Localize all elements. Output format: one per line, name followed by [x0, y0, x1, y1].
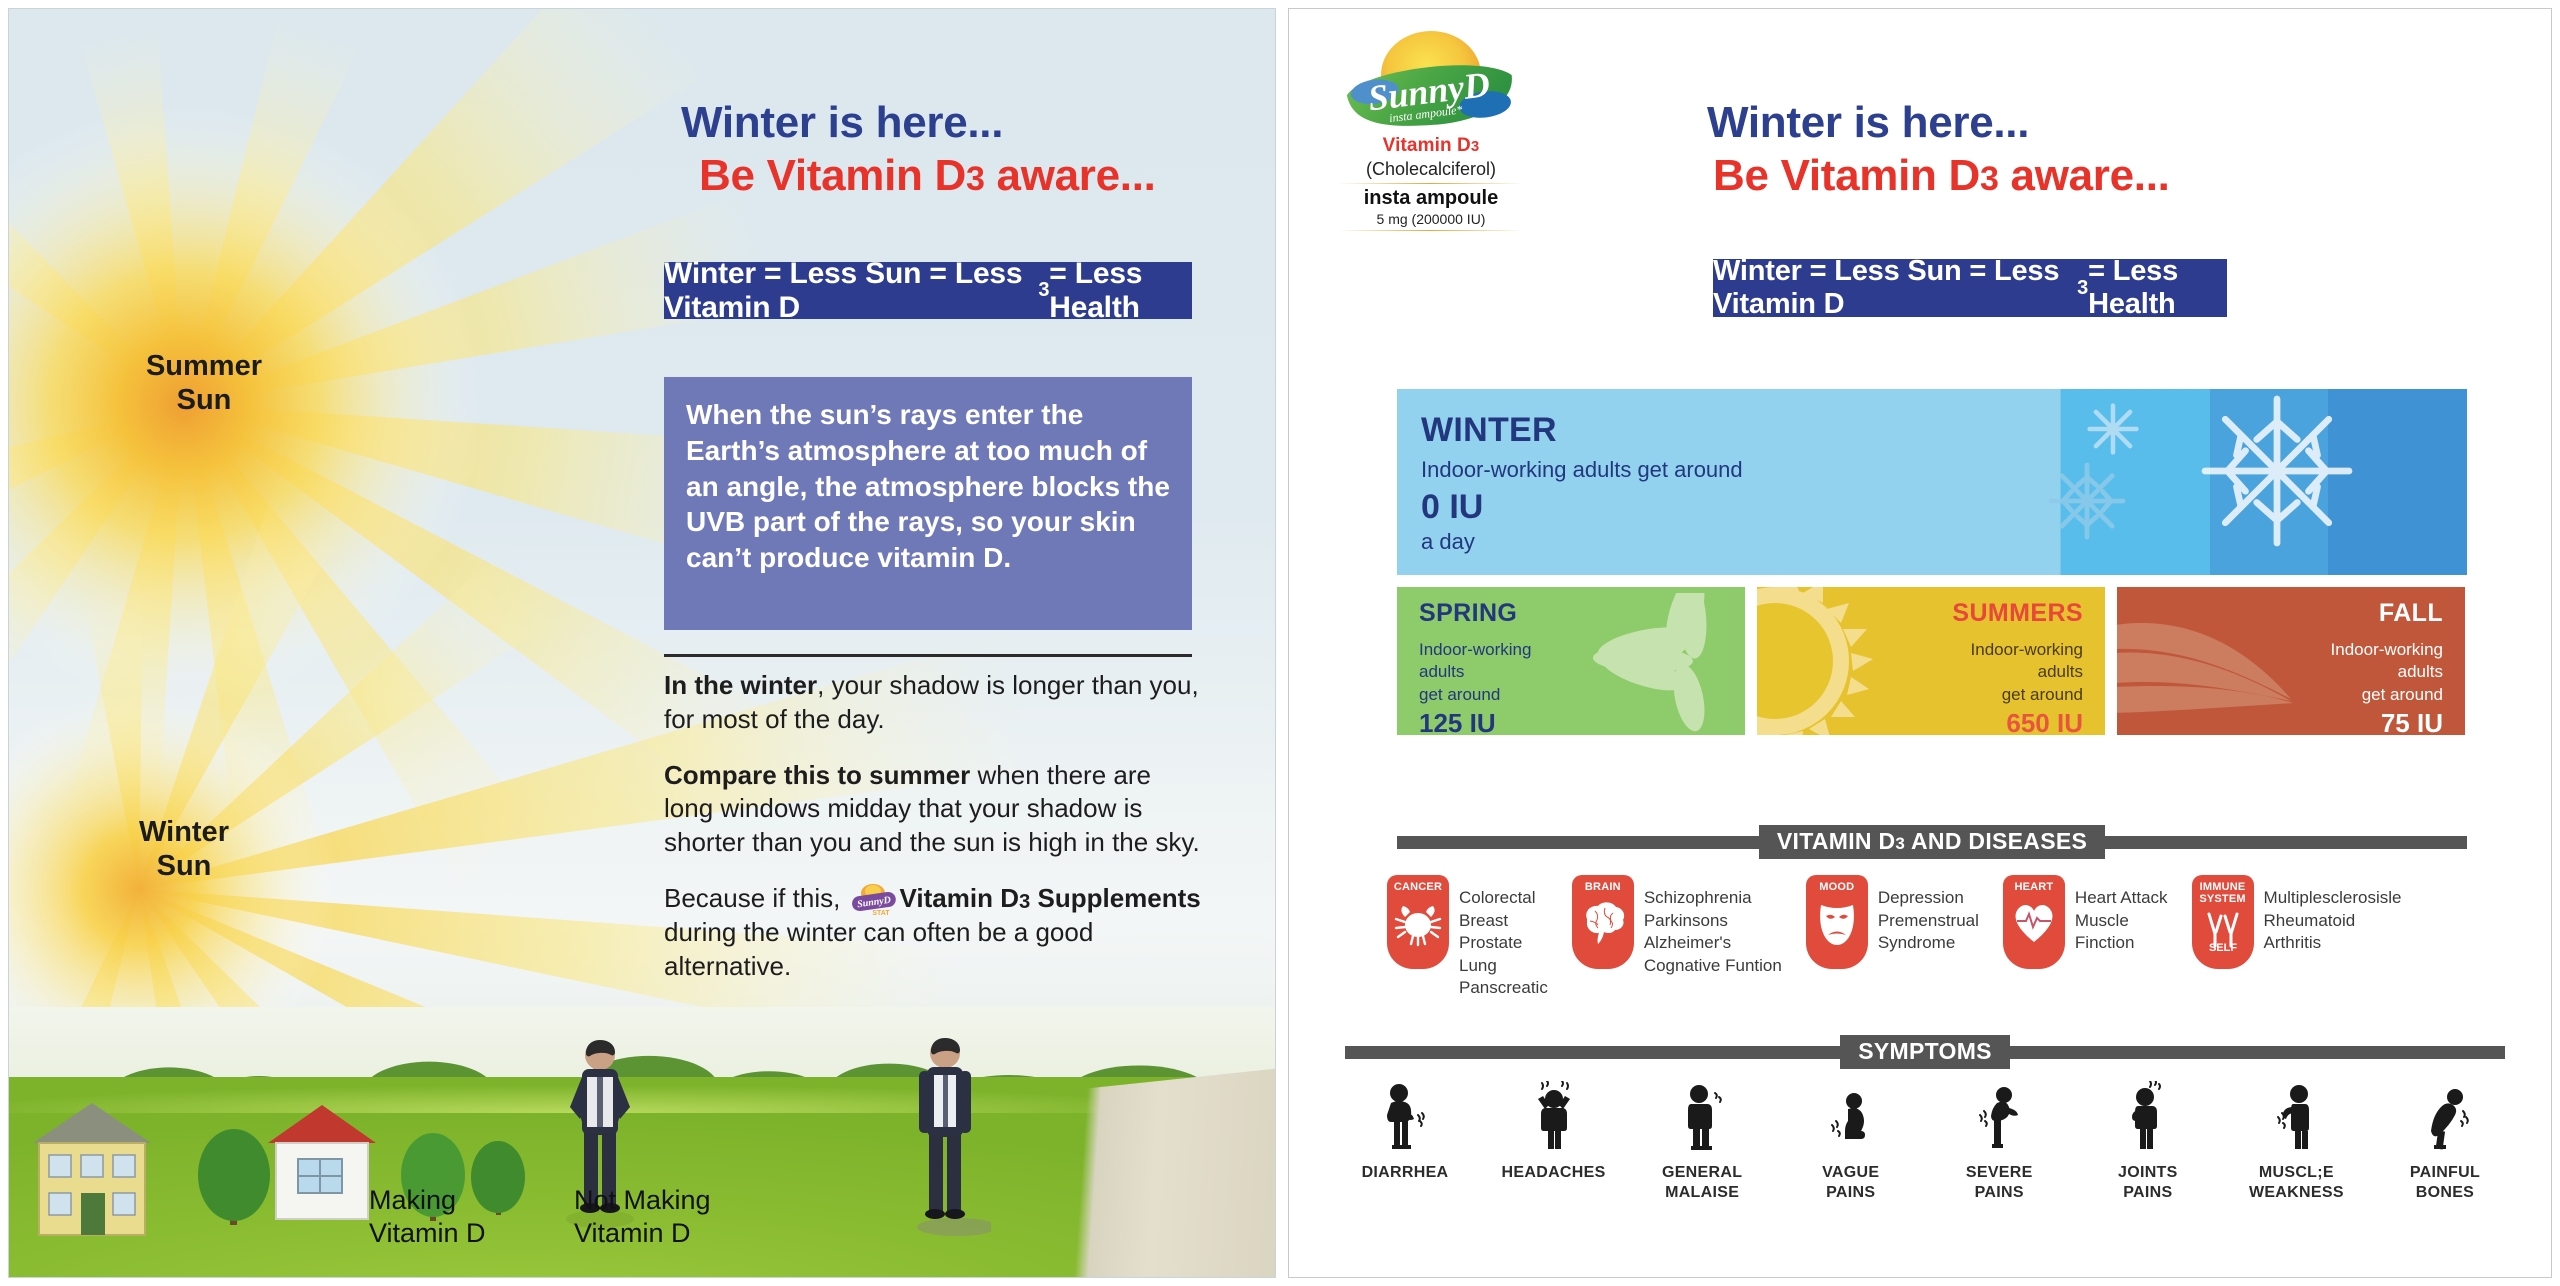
disease-item-brain: BRAIN Schizophrenia Parkinsons: [1572, 875, 1782, 1000]
immune-condition-2: Rheumatoid: [2264, 910, 2402, 933]
logo-divider: [1337, 230, 1525, 231]
paragraph-supplements-rest: during the winter can often be a good al…: [664, 917, 1093, 981]
diseases-ribbon-post: AND DISEASES: [1905, 828, 2087, 854]
white-house-icon: [264, 1101, 380, 1231]
mood-condition-2: Premenstrual: [1878, 910, 1979, 933]
summer-sun-label: Summer Sun: [109, 349, 299, 417]
symptom-general-malaise: GENERAL MALAISE: [1632, 1081, 1772, 1202]
spring-desc-2: adults: [1419, 661, 1531, 683]
person-bone-pain-icon: [2375, 1081, 2515, 1155]
paragraph-supplements-vitamin-sub: 3: [1019, 891, 1030, 913]
season-cards-row: SPRING Indoor-working adults get around …: [1397, 587, 2467, 735]
flower-icon: [1561, 593, 1745, 733]
person-arm-weak-icon: [2226, 1081, 2366, 1155]
heart-conditions: Heart Attack Muscle Finction: [2065, 875, 2168, 955]
brain-condition-4: Cognative Funtion: [1644, 955, 1782, 978]
left-headline-line2: Be Vitamin D3 aware...: [699, 150, 1221, 203]
right-headline-line2: Be Vitamin D3 aware...: [1713, 150, 2267, 203]
paragraph-supplements: Because if this, SunnyDSTATVitamin D3 Su…: [664, 882, 1204, 983]
logo-chemical-name: (Cholecalciferol): [1331, 159, 1531, 180]
symptom-vague-pains: VAGUE PAINS: [1781, 1081, 1921, 1202]
symptom-headaches: HEADACHES: [1484, 1081, 1624, 1202]
sun-icon: [1757, 587, 1931, 735]
tree-icon: [194, 1119, 274, 1229]
paragraph-supplements-word: Supplements: [1038, 883, 1201, 913]
fall-card-body: Indoor-working adults get around 75 IU a…: [2331, 639, 2443, 735]
landscape-illustration: Making Vitamin D Not Making Vitamin D: [9, 1007, 1276, 1277]
uvb-explanation-box: When the sun’s rays enter the Earth’s at…: [664, 377, 1192, 630]
heart-badge-label: HEART: [2014, 882, 2053, 894]
symptom-label-headaches: HEADACHES: [1484, 1163, 1624, 1183]
symptoms-ribbon-bar-right: [2010, 1046, 2505, 1059]
sunnyd-inline-logo-icon: SunnyDSTAT: [848, 884, 900, 914]
disease-item-immune-system: IMMUNE SYSTEM SELF Multiplesclerosisle: [2192, 875, 2402, 1000]
symptom-joints-pains: JOINTS PAINS: [2078, 1081, 2218, 1202]
sad-mask-icon: [1812, 897, 1862, 952]
person-not-making-vitamin-d: [899, 1031, 991, 1241]
svg-text:STAT: STAT: [872, 910, 890, 916]
right-headline-line1: Winter is here...: [1707, 97, 2267, 150]
left-banner-sub: 3: [1038, 279, 1049, 302]
brain-condition-2: Parkinsons: [1644, 910, 1782, 933]
cancer-badge: CANCER: [1387, 875, 1449, 969]
immune-badge: IMMUNE SYSTEM SELF: [2192, 875, 2254, 969]
crab-icon: [1392, 897, 1444, 952]
sunnyd-logo-icon: SunnyD insta ampoule*: [1338, 27, 1524, 139]
left-panel: Summer Sun Winter Sun Winter is here... …: [8, 8, 1276, 1278]
ribbon-bar-left: [1397, 836, 1759, 849]
winter-card-desc: Indoor-working adults get around: [1421, 457, 1743, 483]
paragraph-compare-summer-lead: Compare this to summer: [664, 760, 970, 790]
paragraph-compare-summer: Compare this to summer when there are lo…: [664, 759, 1204, 860]
symptom-label-vague-pains: VAGUE PAINS: [1781, 1163, 1921, 1202]
left-banner-pre: Winter = Less Sun = Less Vitamin D: [664, 257, 1038, 325]
symptom-label-severe-pains: SEVERE PAINS: [1929, 1163, 2069, 1202]
mood-condition-3: Syndrome: [1878, 932, 1979, 955]
summers-card-value: 650 IU: [1971, 706, 2083, 735]
cancer-conditions: Colorectal Breast Prostate Lung Panscrea…: [1449, 875, 1548, 1000]
sunnyd-logo-block: SunnyD insta ampoule* Vitamin D3 (Cholec…: [1331, 27, 1531, 234]
right-equation-banner: Winter = Less Sun = Less Vitamin D3 = Le…: [1713, 259, 2227, 317]
logo-vitamin-sub: 3: [1471, 138, 1479, 155]
yellow-house-icon: [27, 1097, 157, 1247]
symptom-label-general-malaise: GENERAL MALAISE: [1632, 1163, 1772, 1202]
summers-desc-1: Indoor-working: [1971, 639, 2083, 661]
left-headline-line2-pre: Be Vitamin D: [699, 151, 966, 200]
paragraph-supplements-vitamin: Vitamin D: [900, 883, 1019, 913]
symptom-label-painful-bones: PAINFUL BONES: [2375, 1163, 2515, 1202]
paragraph-supplements-pre: Because if this,: [664, 883, 848, 913]
winter-card-text: WINTER Indoor-working adults get around …: [1421, 411, 1743, 555]
left-equation-banner: Winter = Less Sun = Less Vitamin D3 = Le…: [664, 262, 1192, 319]
heart-condition-2: Muscle: [2075, 910, 2168, 933]
heart-condition-3: Finction: [2075, 932, 2168, 955]
paragraph-winter-shadow: In the winter, your shadow is longer tha…: [664, 669, 1204, 737]
left-headline-line2-post: aware...: [985, 151, 1156, 200]
diseases-ribbon-pre: VITAMIN D: [1777, 828, 1896, 854]
logo-divider: [1337, 183, 1525, 184]
fall-desc-3: get around: [2331, 684, 2443, 706]
label-making-vitamin-d: Making Vitamin D: [369, 1184, 486, 1249]
winter-card-value: 0 IU: [1421, 488, 1743, 527]
logo-dose-label: 5 mg (200000 IU): [1331, 211, 1531, 227]
season-card-spring: SPRING Indoor-working adults get around …: [1397, 587, 1745, 735]
cancer-badge-label: CANCER: [1394, 882, 1442, 894]
symptom-muscle-weakness: MUSCL;E WEAKNESS: [2226, 1081, 2366, 1202]
person-malaise-icon: [1632, 1081, 1772, 1155]
fall-card-value: 75 IU: [2331, 706, 2443, 735]
right-panel: SunnyD insta ampoule* Vitamin D3 (Cholec…: [1288, 8, 2552, 1278]
diseases-list: CANCER: [1387, 875, 2487, 1000]
brain-condition-1: Schizophrenia: [1644, 887, 1782, 910]
disease-item-heart: HEART Heart Attack Muscle Finction: [2003, 875, 2168, 1000]
seasonal-vitamin-d-chart: WINTER Indoor-working adults get around …: [1397, 389, 2467, 735]
winter-card-period: a day: [1421, 529, 1743, 555]
person-neck-pain-icon: [2078, 1081, 2218, 1155]
cancer-condition-4: Lung: [1459, 955, 1548, 978]
symptoms-ribbon-label: SYMPTOMS: [1840, 1035, 2010, 1069]
heart-condition-1: Heart Attack: [2075, 887, 2168, 910]
left-headline-line2-sub: 3: [966, 160, 985, 198]
symptoms-ribbon-bar-left: [1345, 1046, 1840, 1059]
heart-badge: HEART: [2003, 875, 2065, 969]
fall-desc-2: adults: [2331, 661, 2443, 683]
brain-conditions: Schizophrenia Parkinsons Alzheimer's Cog…: [1634, 875, 1782, 977]
winter-sun-label: Winter Sun: [89, 815, 279, 883]
spring-desc-3: get around: [1419, 684, 1531, 706]
antibody-self-icon: SELF: [2197, 908, 2249, 959]
cancer-condition-2: Breast: [1459, 910, 1548, 933]
symptom-label-diarrhea: DIARRHEA: [1335, 1163, 1475, 1183]
person-headache-icon: [1484, 1081, 1624, 1155]
ribbon-bar-right: [2105, 836, 2467, 849]
mood-badge: MOOD: [1806, 875, 1868, 969]
person-back-pain-icon: [1929, 1081, 2069, 1155]
brain-badge: BRAIN: [1572, 875, 1634, 969]
spring-card-body: Indoor-working adults get around 125 IU …: [1419, 639, 1531, 735]
left-body-text: In the winter, your shadow is longer tha…: [664, 669, 1204, 1005]
brain-condition-3: Alzheimer's: [1644, 932, 1782, 955]
symptom-severe-pains: SEVERE PAINS: [1929, 1081, 2069, 1202]
spring-card-value: 125 IU: [1419, 706, 1531, 735]
symptom-label-joints-pains: JOINTS PAINS: [2078, 1163, 2218, 1202]
cancer-condition-3: Prostate: [1459, 932, 1548, 955]
left-banner-post: = Less Health: [1049, 257, 1192, 325]
cancer-condition-1: Colorectal: [1459, 887, 1548, 910]
right-banner-sub: 3: [2077, 277, 2088, 300]
mood-conditions: Depression Premenstrual Syndrome: [1868, 875, 1979, 955]
section-divider: [664, 654, 1192, 657]
brain-icon: [1577, 897, 1629, 952]
immune-condition-1: Multiplesclerosisle: [2264, 887, 2402, 910]
right-headline-line2-post: aware...: [1999, 151, 2170, 200]
diseases-section-header: VITAMIN D3 AND DISEASES: [1397, 827, 2467, 857]
diseases-ribbon-sub: 3: [1895, 834, 1905, 853]
season-card-fall: FALL Indoor-working adults get around 75…: [2117, 587, 2465, 735]
immune-condition-3: Arthritis: [2264, 932, 2402, 955]
heart-pulse-icon: [2009, 897, 2059, 950]
left-headline: Winter is here... Be Vitamin D3 aware...: [681, 97, 1221, 203]
person-stomach-ache-icon: [1335, 1081, 1475, 1155]
diseases-ribbon-label: VITAMIN D3 AND DISEASES: [1759, 825, 2105, 859]
paragraph-winter-shadow-lead: In the winter: [664, 670, 817, 700]
symptom-diarrhea: DIARRHEA: [1335, 1081, 1475, 1202]
season-card-summers: SUMMERS Indoor-working adults get around…: [1757, 587, 2105, 735]
right-headline: Winter is here... Be Vitamin D3 aware...: [1707, 97, 2267, 203]
summers-desc-3: get around: [1971, 684, 2083, 706]
symptoms-list: DIARRHEA HEADACHES: [1335, 1081, 2515, 1202]
infographic-root: Summer Sun Winter Sun Winter is here... …: [0, 0, 2560, 1286]
right-headline-line2-sub: 3: [1980, 160, 1999, 198]
mood-condition-1: Depression: [1878, 887, 1979, 910]
logo-form-label: insta ampoule: [1331, 187, 1531, 210]
disease-item-mood: MOOD Depression Premenstrual Syndrome: [1806, 875, 1979, 1000]
fall-card-title: FALL: [2379, 599, 2443, 628]
mood-badge-label: MOOD: [1819, 882, 1854, 894]
leaf-icon: [2117, 591, 2343, 731]
disease-item-cancer: CANCER: [1387, 875, 1548, 1000]
summers-desc-2: adults: [1971, 661, 2083, 683]
summers-card-body: Indoor-working adults get around 650 IU …: [1971, 639, 2083, 735]
snowflake-decor: [2047, 389, 2467, 575]
immune-conditions: Multiplesclerosisle Rheumatoid Arthritis: [2254, 875, 2402, 955]
brain-badge-label: BRAIN: [1585, 882, 1621, 894]
winter-card-title: WINTER: [1421, 411, 1743, 450]
right-banner-pre: Winter = Less Sun = Less Vitamin D: [1713, 255, 2077, 321]
immune-badge-label: IMMUNE SYSTEM: [2192, 882, 2254, 905]
svg-text:SELF: SELF: [2208, 942, 2236, 954]
summers-card-title: SUMMERS: [1952, 599, 2083, 628]
right-headline-line2-pre: Be Vitamin D: [1713, 151, 1980, 200]
symptoms-section-header: SYMPTOMS: [1345, 1037, 2505, 1067]
spring-desc-1: Indoor-working: [1419, 639, 1531, 661]
season-card-winter: WINTER Indoor-working adults get around …: [1397, 389, 2467, 575]
symptom-label-muscle-weakness: MUSCL;E WEAKNESS: [2226, 1163, 2366, 1202]
right-banner-post: = Less Health: [2088, 255, 2227, 321]
cancer-condition-5: Panscreatic: [1459, 977, 1548, 1000]
person-kneeling-icon: [1781, 1081, 1921, 1155]
label-not-making-vitamin-d: Not Making Vitamin D: [574, 1184, 711, 1249]
spring-card-title: SPRING: [1419, 599, 1517, 628]
symptom-painful-bones: PAINFUL BONES: [2375, 1081, 2515, 1202]
uvb-explanation-text: When the sun’s rays enter the Earth’s at…: [686, 399, 1170, 573]
left-headline-line1: Winter is here...: [681, 97, 1221, 150]
fall-desc-1: Indoor-working: [2331, 639, 2443, 661]
